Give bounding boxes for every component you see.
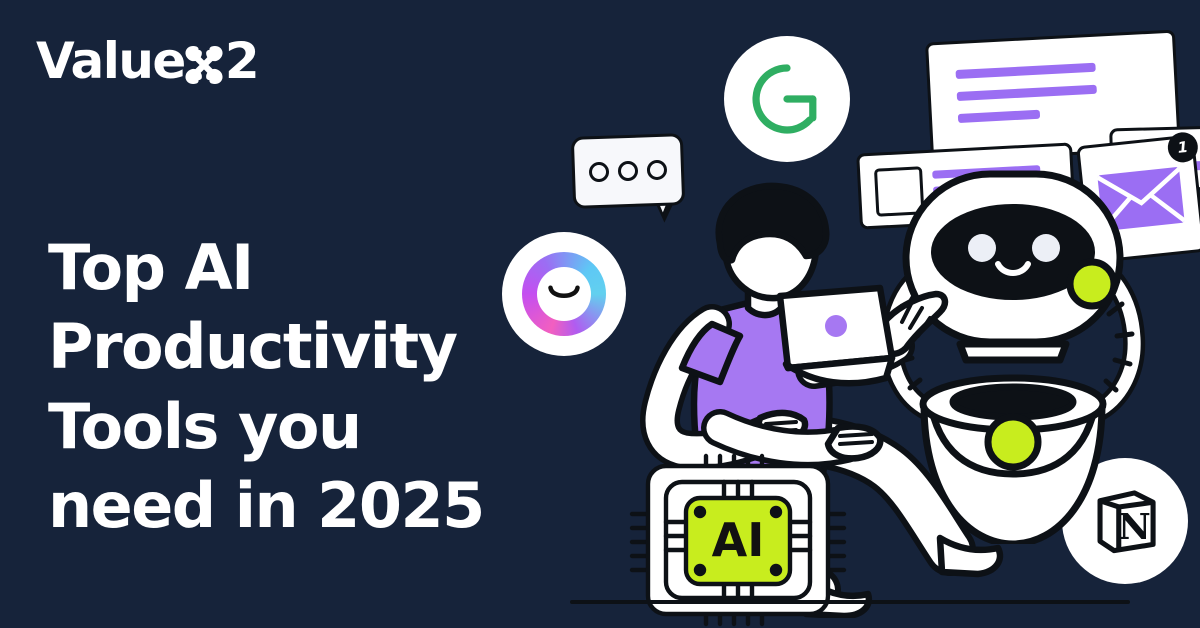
promo-banner: Value 2 Top AI Productivity Tools you ne… — [0, 0, 1200, 628]
x-knot-icon — [181, 41, 227, 87]
ai-chip-label: AI — [712, 513, 765, 567]
brand-logo-number: 2 — [225, 36, 259, 86]
doc-line — [958, 110, 1040, 123]
page-title: Top AI Productivity Tools you need in 20… — [48, 228, 518, 545]
grammarly-logo-icon — [724, 36, 850, 162]
hero-illustration: N — [490, 0, 1200, 628]
ground-line — [570, 600, 1130, 604]
doc-line — [957, 85, 1097, 101]
brand-logo[interactable]: Value 2 — [36, 30, 259, 92]
doc-line — [956, 63, 1096, 79]
brand-logo-text: Value — [36, 36, 185, 86]
